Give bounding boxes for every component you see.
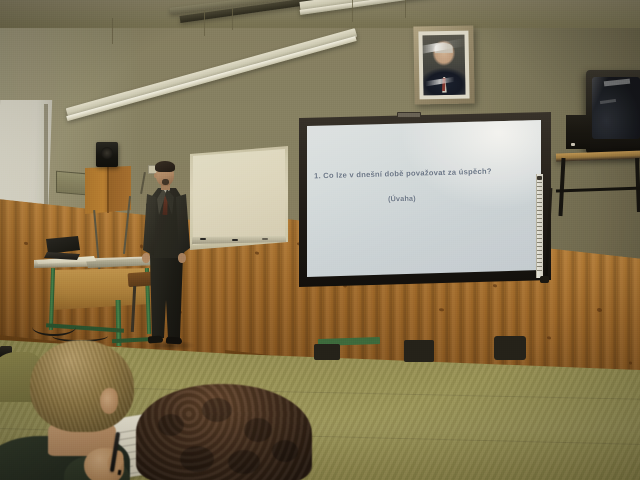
- classroom-photo: 1. Co lze v dnešní době považovat za úsp…: [0, 0, 640, 480]
- projection-screen[interactable]: [307, 120, 541, 277]
- marker[interactable]: [232, 239, 238, 241]
- framed-portrait: [413, 25, 474, 104]
- slide-subtitle-text: (Úvaha): [388, 194, 416, 204]
- chair-foot: [314, 344, 340, 360]
- tv-screen: [592, 77, 640, 139]
- student-front-hair: [30, 340, 134, 432]
- whiteboard-brand-badge: [397, 112, 421, 118]
- portrait-mat: [418, 31, 469, 100]
- presenter-hand-right: [178, 253, 186, 263]
- marker[interactable]: [200, 238, 206, 240]
- cabinet-door-seam: [107, 166, 109, 213]
- monitor-power-led: [571, 143, 575, 146]
- presenter-ear: [154, 173, 157, 178]
- shelf-bracket: [635, 158, 640, 212]
- presenter-arm-left: [143, 194, 156, 256]
- wall-noticeboard: [56, 171, 86, 196]
- student-front-ear: [100, 388, 118, 414]
- presenter-trousers: [150, 256, 183, 338]
- whiteboard-side-button[interactable]: [537, 176, 542, 180]
- eraser[interactable]: [262, 238, 268, 240]
- portrait-glass-glare: [425, 77, 455, 87]
- presenter-hair: [155, 161, 175, 172]
- presenter: [140, 160, 200, 352]
- presenter-goatee: [162, 179, 169, 185]
- chair-foot: [404, 340, 434, 362]
- whiteboard-surface[interactable]: [193, 149, 285, 245]
- student-right-seated: [136, 384, 312, 480]
- speaker-right: [566, 115, 590, 149]
- chair-foot: [494, 336, 526, 360]
- cable-plug: [540, 276, 549, 283]
- speaker-cone-icon: [101, 147, 113, 159]
- portrait-photo: [422, 35, 465, 96]
- pen-tray-ticks: [537, 178, 542, 274]
- presenter-hand-left: [142, 253, 150, 263]
